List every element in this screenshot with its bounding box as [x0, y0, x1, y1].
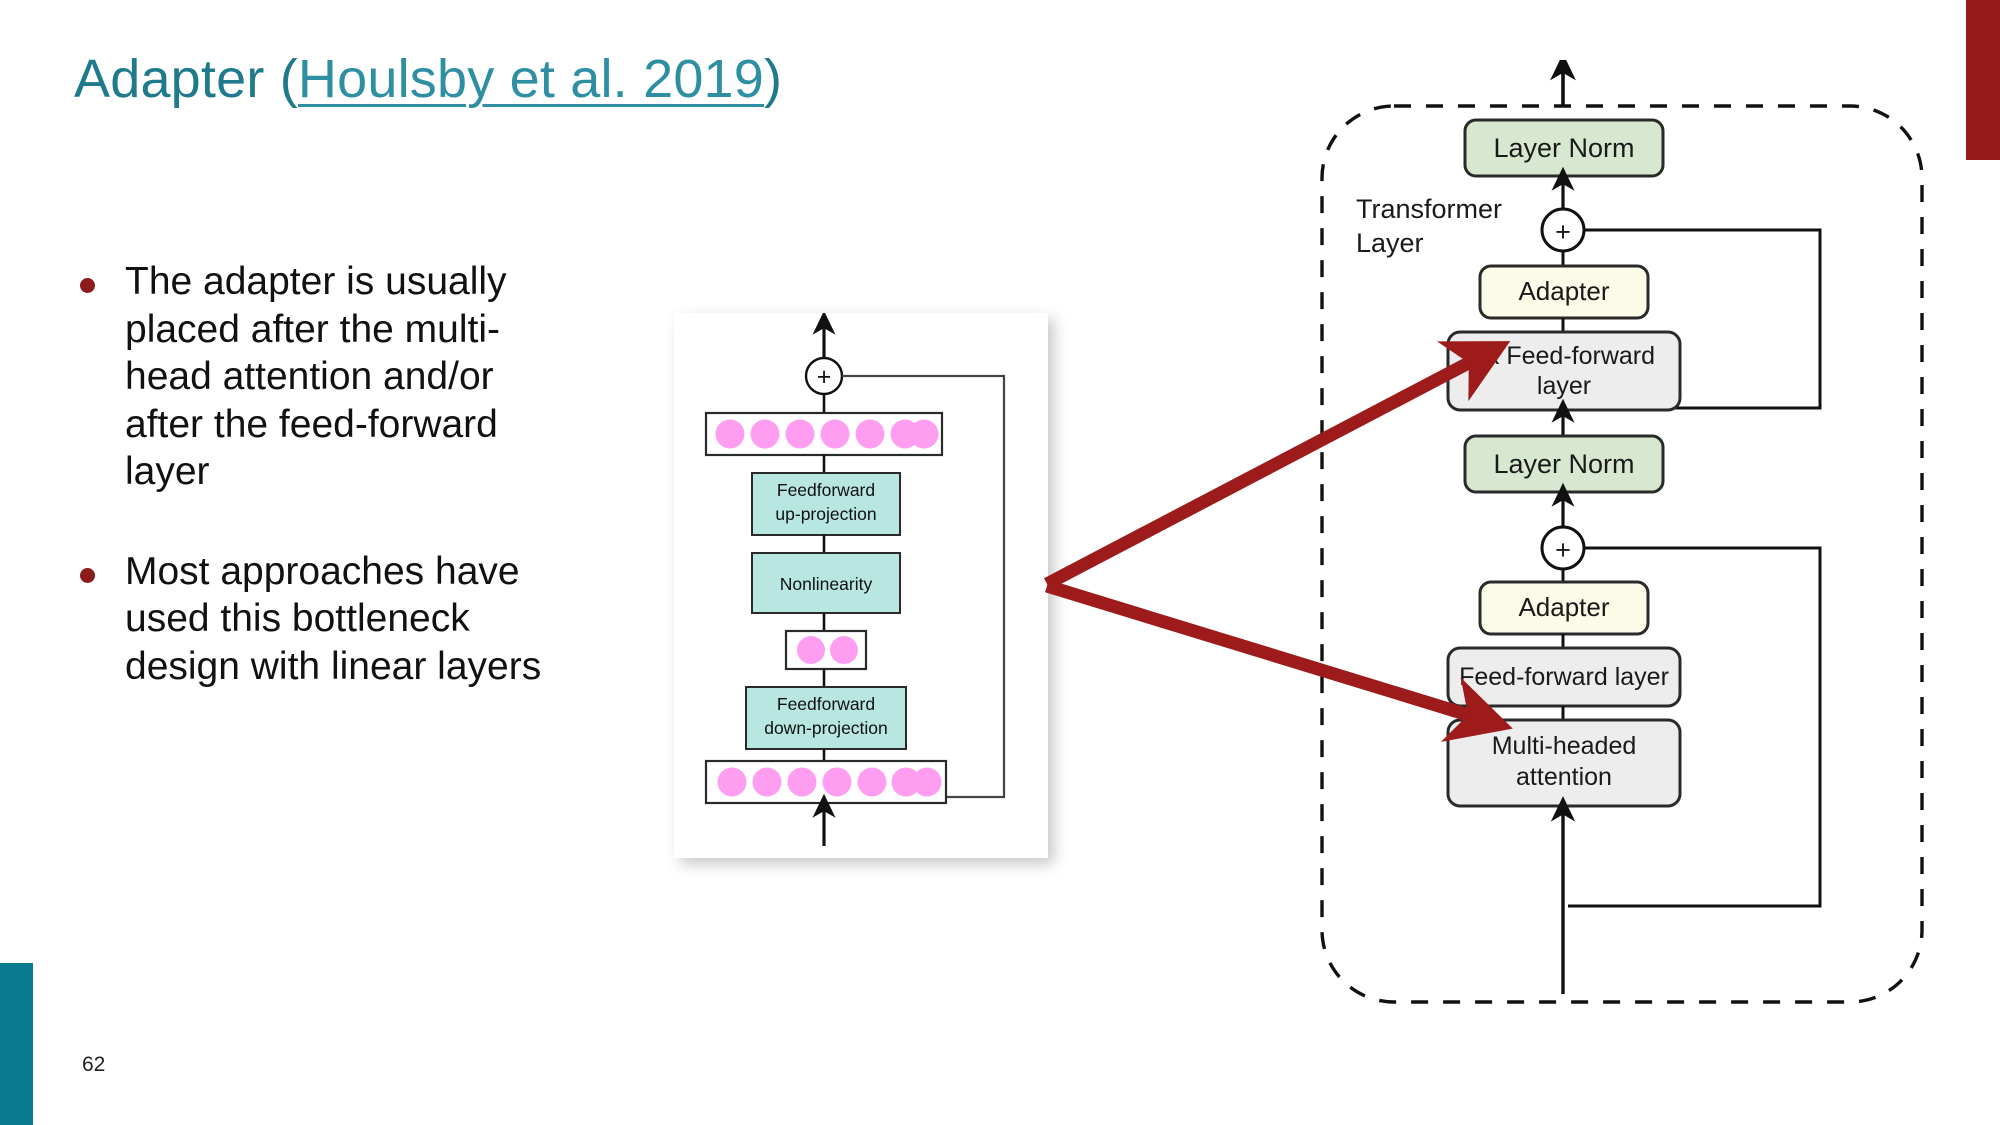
- adapter-top-label: Adapter: [1518, 276, 1609, 306]
- ff-down-line1: Feedforward: [777, 694, 875, 714]
- transformer-layer-caption-line1: Transformer: [1356, 194, 1502, 224]
- decorative-bar-top-right: [1966, 0, 2000, 160]
- slide-canvas: Adapter (Houlsby et al. 2019) The adapte…: [0, 0, 2000, 1125]
- feed-forward-layer-label: Feed-forward layer: [1459, 663, 1669, 691]
- decorative-bar-bottom-left: [0, 963, 33, 1125]
- transformer-layer-caption-line2: Layer: [1356, 228, 1424, 258]
- layer-norm-mid-label: Layer Norm: [1493, 449, 1634, 479]
- adapter-internal-diagram: + Feedforward up-projection: [674, 313, 1048, 858]
- ff-up-line2: up-projection: [775, 504, 876, 524]
- bullet-dot-icon: [80, 278, 95, 293]
- mha-line1: Multi-headed: [1492, 732, 1637, 760]
- bullet-dot-icon: [80, 568, 95, 583]
- plus-symbol-lower: +: [1555, 535, 1571, 565]
- page-title: Adapter (Houlsby et al. 2019): [74, 48, 782, 110]
- plus-symbol-upper: +: [1555, 217, 1571, 247]
- transformer-layer-diagram: Layer Norm + Adapter 2x Feed-forward lay…: [1300, 60, 1960, 1020]
- mha-line2: attention: [1516, 763, 1612, 791]
- ff2x-line1: 2x Feed-forward: [1473, 342, 1655, 370]
- citation-link[interactable]: Houlsby et al. 2019: [298, 49, 764, 109]
- ff2x-line2: layer: [1537, 372, 1591, 400]
- layer-norm-top-label: Layer Norm: [1493, 133, 1634, 163]
- ff-up-line1: Feedforward: [777, 480, 875, 500]
- title-suffix: ): [764, 49, 782, 109]
- list-item: Most approaches have used this bottlenec…: [80, 548, 550, 691]
- bullet-list: The adapter is usually placed after the …: [80, 258, 550, 743]
- title-prefix: Adapter (: [74, 49, 298, 109]
- bullet-text: The adapter is usually placed after the …: [125, 258, 550, 496]
- ff-down-line2: down-projection: [764, 718, 888, 738]
- nonlinearity-label: Nonlinearity: [780, 574, 873, 594]
- slide-page-number: 62: [82, 1053, 105, 1077]
- adapter-bottom-label: Adapter: [1518, 592, 1609, 622]
- plus-symbol: +: [817, 363, 832, 391]
- bullet-text: Most approaches have used this bottlenec…: [125, 548, 550, 691]
- list-item: The adapter is usually placed after the …: [80, 258, 550, 496]
